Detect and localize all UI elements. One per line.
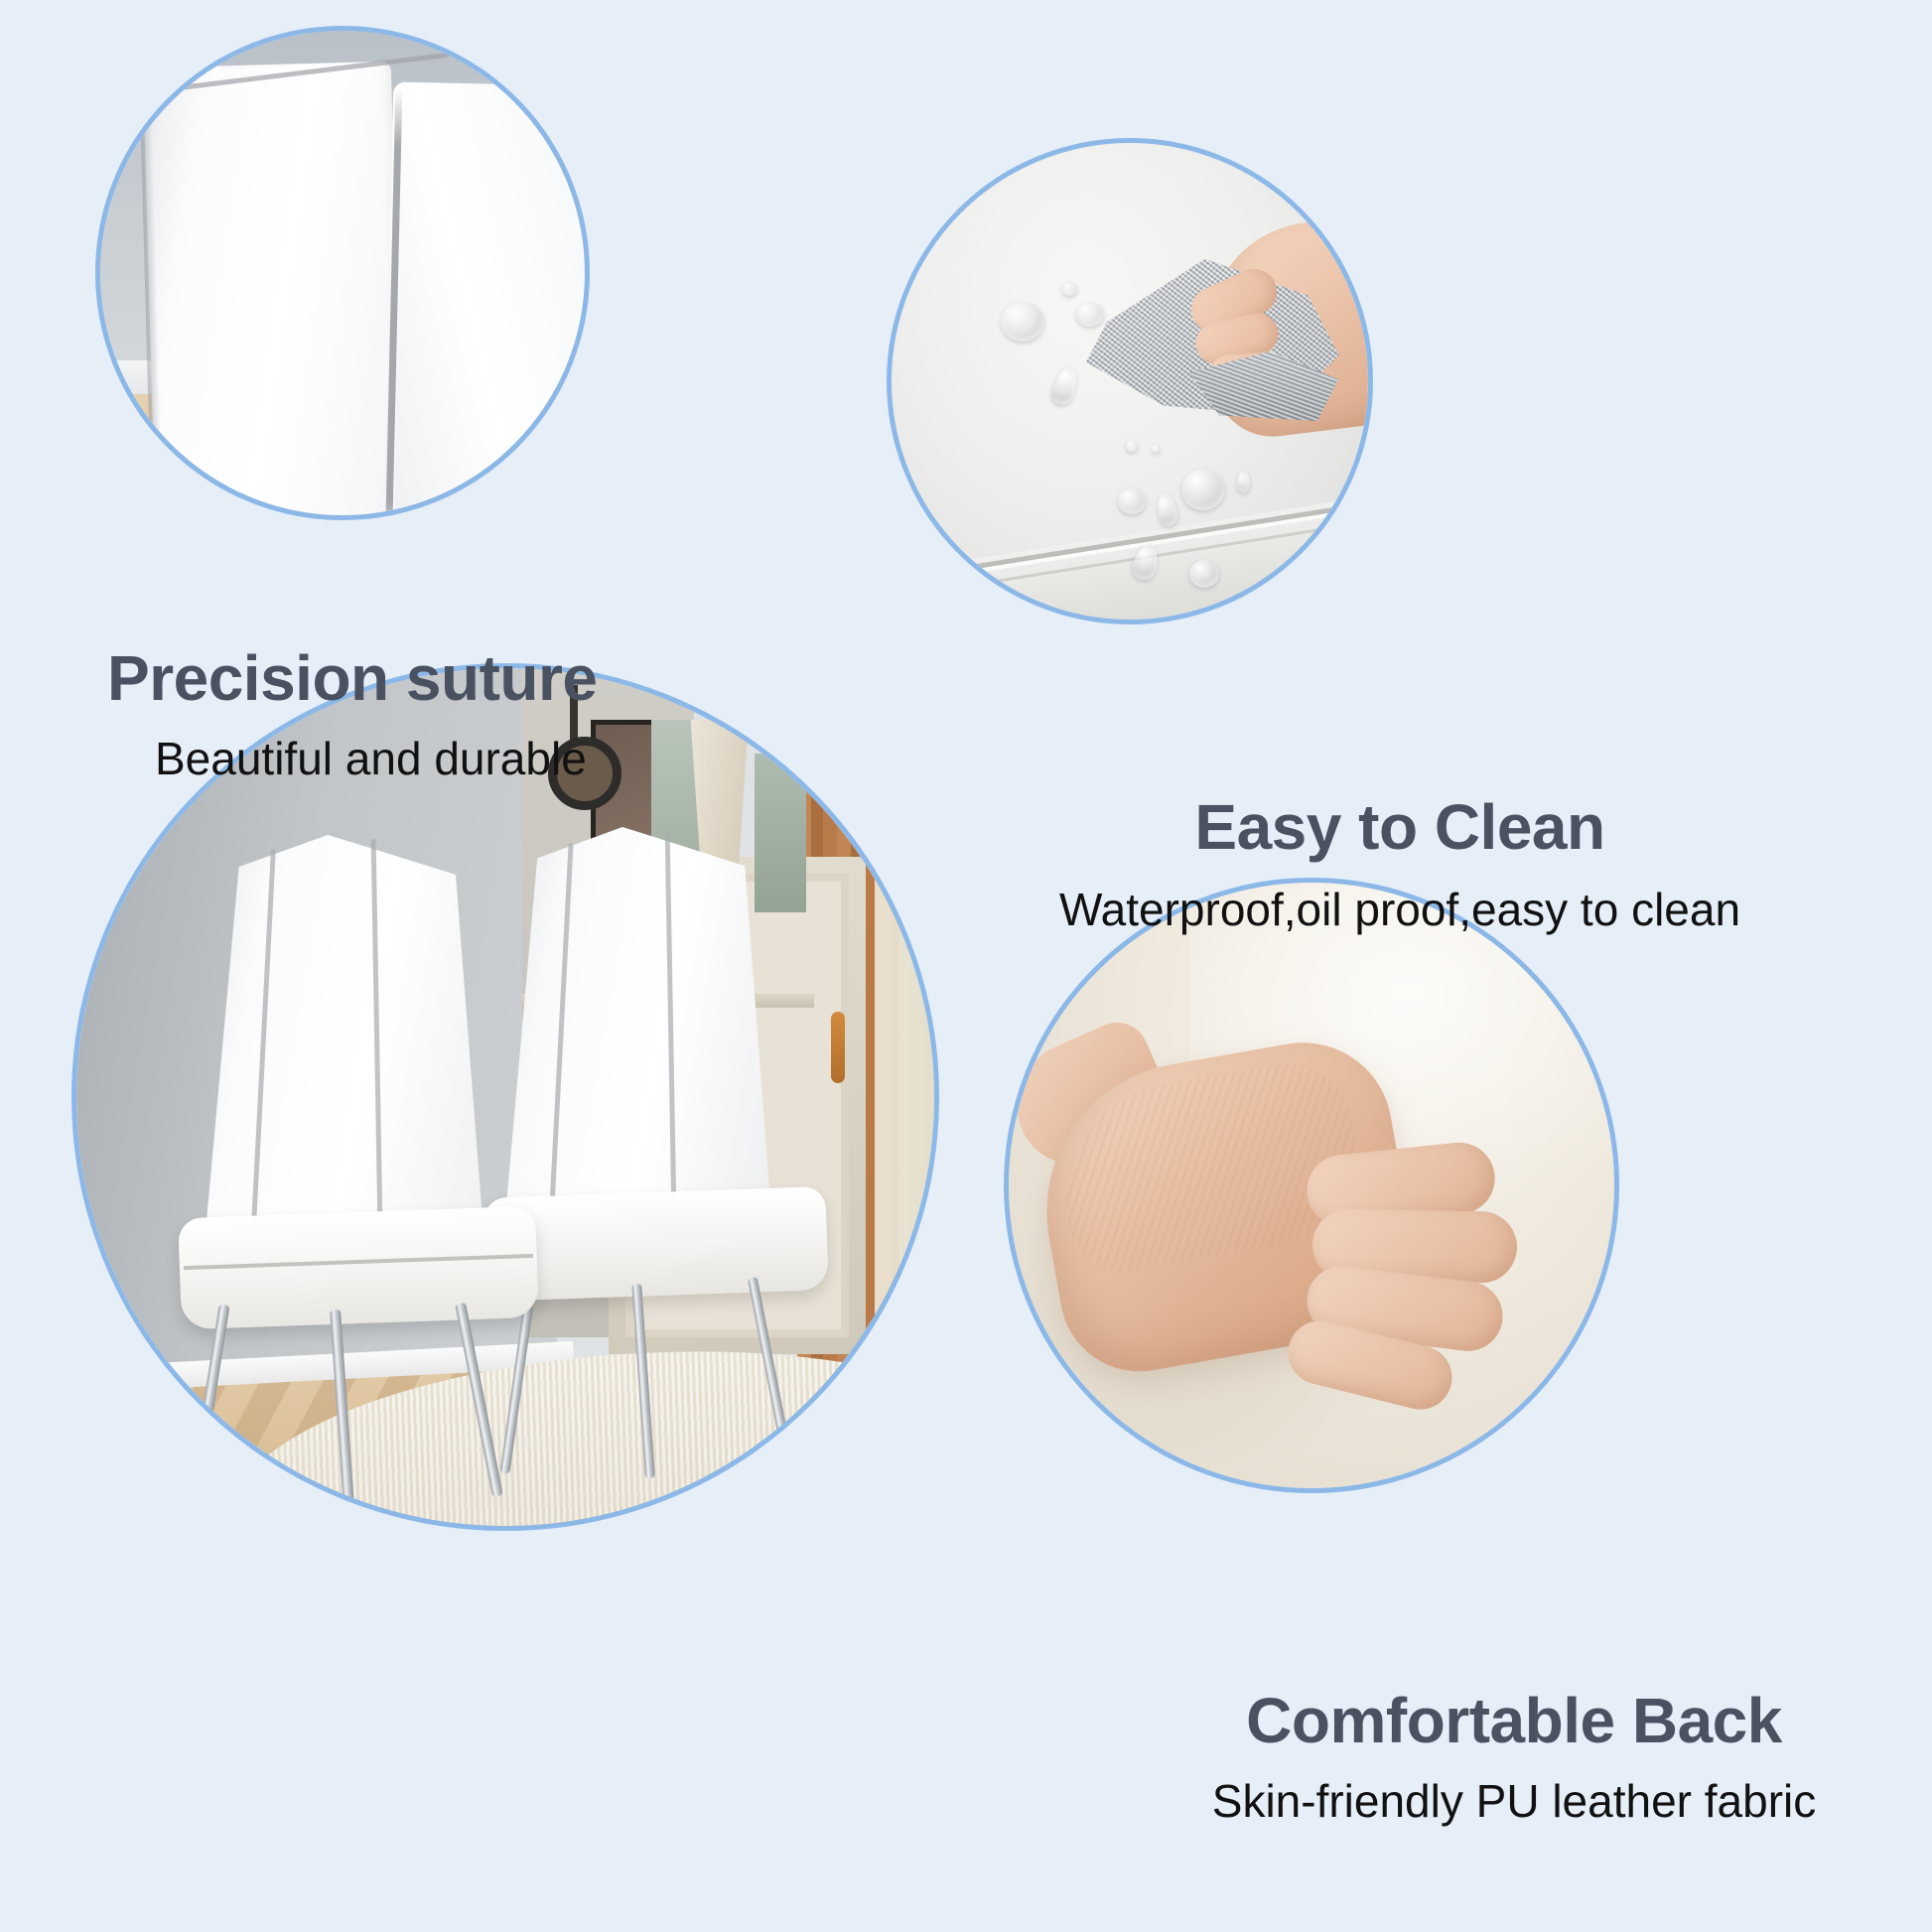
water-droplet-icon <box>1181 469 1225 510</box>
infographic-canvas: Precision suture Beautiful and durable E… <box>0 0 1932 1932</box>
chair-back-front <box>206 835 483 1232</box>
water-droplet-icon <box>1062 282 1077 296</box>
chair-back-rear <box>505 827 771 1216</box>
cabinet-handle <box>831 1012 845 1083</box>
water-droplet-icon <box>1001 302 1044 342</box>
wall-panel <box>755 754 806 912</box>
caption-precision-suture: Precision suture Beautiful and durable <box>107 645 598 784</box>
photo-easy-to-clean <box>887 138 1373 624</box>
feature-title-easy-to-clean: Easy to Clean <box>1013 794 1787 861</box>
photo-lifestyle-chairs <box>71 663 939 1531</box>
water-droplet-icon <box>1152 445 1160 453</box>
water-droplet-icon <box>1237 471 1250 492</box>
feature-title-precision-suture: Precision suture <box>107 645 598 712</box>
water-droplet-icon <box>1118 488 1146 514</box>
feature-subtitle-easy-to-clean: Waterproof,oil proof,easy to clean <box>1013 885 1787 935</box>
caption-easy-to-clean: Easy to Clean Waterproof,oil proof,easy … <box>1013 794 1787 935</box>
feature-subtitle-comfortable-back: Skin-friendly PU leather fabric <box>1147 1776 1881 1827</box>
photo-precision-suture <box>95 26 590 520</box>
water-droplet-icon <box>1189 560 1219 588</box>
water-droplet-icon <box>1076 302 1104 327</box>
feature-title-comfortable-back: Comfortable Back <box>1147 1688 1881 1754</box>
water-droplet-icon <box>1126 441 1138 452</box>
feature-subtitle-precision-suture: Beautiful and durable <box>155 734 598 784</box>
caption-comfortable-back: Comfortable Back Skin-friendly PU leathe… <box>1147 1688 1881 1827</box>
chair-back-panel-left <box>143 62 405 515</box>
photo-comfortable-back <box>1004 878 1619 1493</box>
chair-back-panel-right <box>383 81 585 515</box>
